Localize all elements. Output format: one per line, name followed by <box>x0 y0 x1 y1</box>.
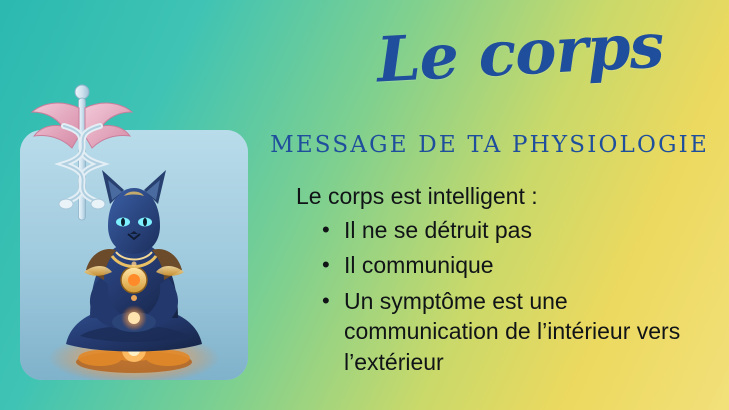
caduceus-icon <box>22 78 142 228</box>
page-subtitle: MESSAGE DE TA PHYSIOLOGIE <box>262 132 717 158</box>
list-item: • Il communique <box>344 250 716 281</box>
list-item-label: Il ne se détruit pas <box>344 217 532 243</box>
list-item-label: Il communique <box>344 252 494 278</box>
list-item: • Il ne se détruit pas <box>344 215 716 246</box>
list-item: • Un symptôme est une communication de l… <box>344 286 716 378</box>
bullet-glyph: • <box>322 286 330 315</box>
slide-canvas: Le corps MESSAGE DE TA PHYSIOLOGIE Le co… <box>0 0 729 410</box>
body-text-block: Le corps est intelligent : • Il ne se dé… <box>296 182 716 383</box>
lead-statement: Le corps est intelligent : <box>296 182 716 211</box>
list-item-label: Un symptôme est une communication de l’i… <box>344 288 680 375</box>
page-title: Le corps <box>329 12 712 94</box>
bullet-glyph: • <box>322 215 330 244</box>
bullet-list: • Il ne se détruit pas • Il communique •… <box>296 215 716 378</box>
bullet-glyph: • <box>322 250 330 279</box>
